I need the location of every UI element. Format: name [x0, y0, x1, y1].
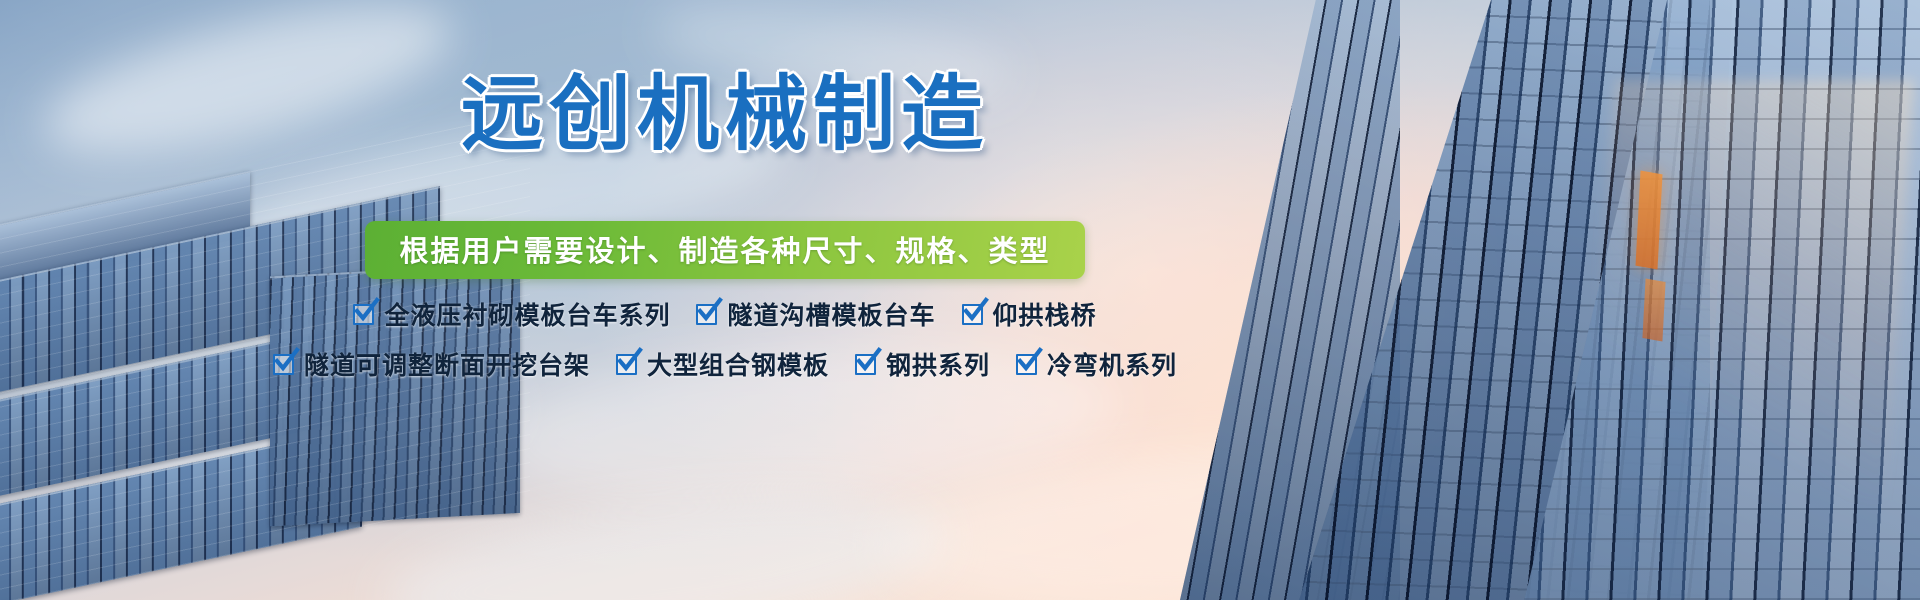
- feature-row: 隧道可调整断面开挖台架 大型组合钢模板 钢拱系列: [0, 346, 1450, 382]
- banner-title: 远创机械制造: [0, 74, 1450, 156]
- checkbox-checked-icon[interactable]: [696, 304, 717, 325]
- checkbox-checked-icon[interactable]: [616, 354, 637, 375]
- feature-item[interactable]: 隧道沟槽模板台车: [696, 296, 935, 332]
- feature-item-label: 仰拱栈桥: [993, 296, 1097, 332]
- feature-item-label: 冷弯机系列: [1047, 346, 1177, 382]
- feature-item-label: 隧道沟槽模板台车: [727, 296, 935, 332]
- banner-content: 远创机械制造 根据用户需要设计、制造各种尺寸、规格、类型 全液压衬砌模板台车系列…: [0, 0, 1920, 600]
- feature-item[interactable]: 钢拱系列: [855, 346, 990, 382]
- feature-row: 全液压衬砌模板台车系列 隧道沟槽模板台车 仰拱栈桥: [0, 296, 1450, 332]
- feature-item[interactable]: 全液压衬砌模板台车系列: [353, 296, 670, 332]
- checkbox-checked-icon[interactable]: [1016, 354, 1037, 375]
- feature-item-label: 大型组合钢模板: [647, 346, 829, 382]
- checkbox-checked-icon[interactable]: [855, 354, 876, 375]
- feature-item[interactable]: 仰拱栈桥: [962, 296, 1097, 332]
- tagline-badge: 根据用户需要设计、制造各种尺寸、规格、类型: [365, 221, 1084, 279]
- feature-item[interactable]: 隧道可调整断面开挖台架: [273, 346, 590, 382]
- feature-item-label: 钢拱系列: [886, 346, 990, 382]
- checkbox-checked-icon[interactable]: [962, 304, 983, 325]
- feature-item-label: 全液压衬砌模板台车系列: [384, 296, 670, 332]
- checkbox-checked-icon[interactable]: [273, 354, 294, 375]
- feature-item-label: 隧道可调整断面开挖台架: [304, 346, 590, 382]
- feature-item[interactable]: 冷弯机系列: [1016, 346, 1177, 382]
- checkbox-checked-icon[interactable]: [353, 304, 374, 325]
- tagline-container: 根据用户需要设计、制造各种尺寸、规格、类型: [0, 221, 1450, 279]
- hero-banner: 远创机械制造 根据用户需要设计、制造各种尺寸、规格、类型 全液压衬砌模板台车系列…: [0, 0, 1920, 600]
- feature-list: 全液压衬砌模板台车系列 隧道沟槽模板台车 仰拱栈桥: [0, 296, 1450, 396]
- feature-item[interactable]: 大型组合钢模板: [616, 346, 829, 382]
